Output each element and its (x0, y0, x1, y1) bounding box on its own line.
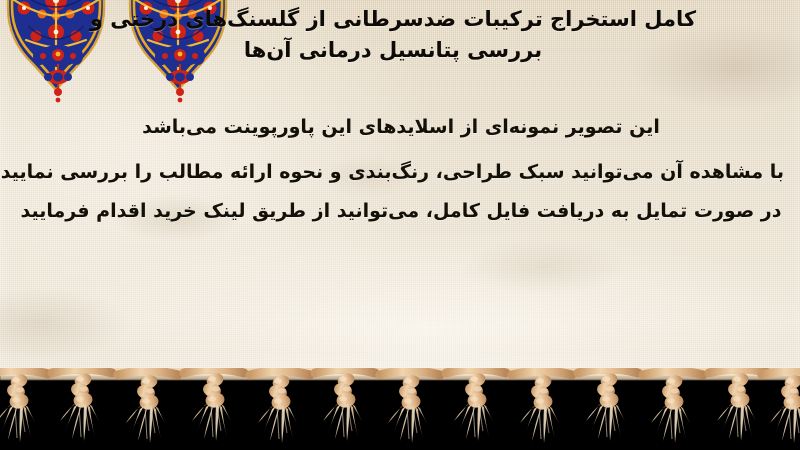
slide-body-line-2: با مشاهده آن می‌توانید سبک طراحی، رنگ‌بن… (18, 153, 784, 192)
slide-title: کامل استخراج ترکیبات ضدسرطانی از گلسنگ‌ه… (0, 4, 786, 66)
slide-title-line-2: بررسی پتانسیل درمانی آن‌ها (0, 35, 786, 66)
text-layer: کامل استخراج ترکیبات ضدسرطانی از گلسنگ‌ه… (0, 0, 800, 450)
slide-body-line-1: این تصویر نمونه‌ای از اسلایدهای این پاور… (18, 108, 784, 147)
slide-body: این تصویر نمونه‌ای از اسلایدهای این پاور… (18, 108, 784, 231)
slide-body-line-3: در صورت تمایل به دریافت فایل کامل، می‌تو… (18, 192, 784, 231)
slide-title-line-1: کامل استخراج ترکیبات ضدسرطانی از گلسنگ‌ه… (90, 7, 696, 31)
slide-canvas: کامل استخراج ترکیبات ضدسرطانی از گلسنگ‌ه… (0, 0, 800, 450)
